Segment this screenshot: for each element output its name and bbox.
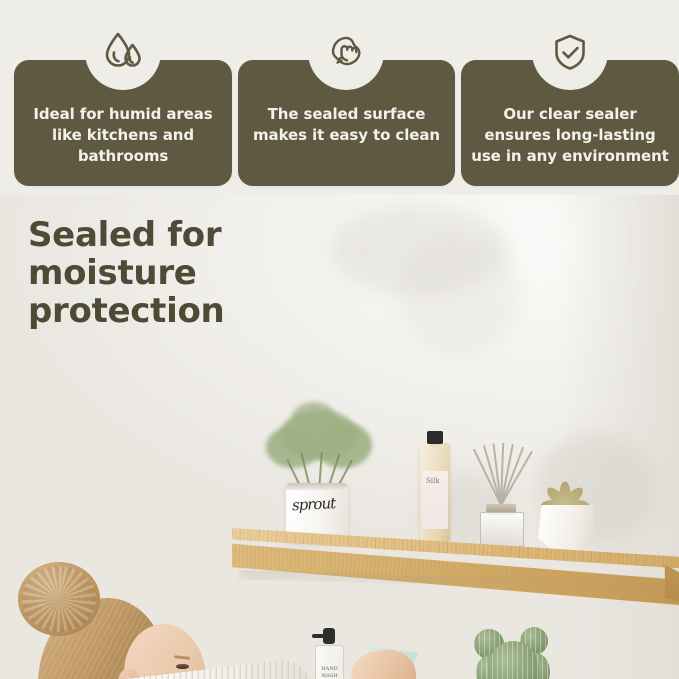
hand-wiping-cloth-icon — [308, 14, 384, 90]
product-feature-graphic: sprout Silk — [0, 0, 679, 679]
feature-card-text: Our clear sealer ensures long-lasting us… — [471, 104, 669, 167]
page-headline: Sealed for moisture protection — [28, 216, 258, 330]
girl-holding-spray-bottle — [0, 558, 372, 679]
planter-label: sprout — [292, 494, 345, 517]
girl-hair-bun — [18, 562, 100, 636]
planter-rim — [286, 483, 348, 490]
cactus-plant — [474, 625, 552, 679]
bottle-label-text: Silk — [426, 477, 440, 485]
bottle-cap — [427, 431, 443, 444]
feature-card-text: The sealed surface makes it easy to clea… — [248, 104, 445, 146]
girl-eye — [176, 664, 189, 669]
shield-check-icon — [532, 14, 608, 90]
water-drops-icon — [85, 14, 161, 90]
fern-plant — [262, 400, 378, 492]
feature-card-row: Ideal for humid areas like kitchens and … — [0, 0, 679, 195]
wall-shadow-diffuser — [400, 235, 520, 355]
feature-card-text: Ideal for humid areas like kitchens and … — [24, 104, 222, 167]
